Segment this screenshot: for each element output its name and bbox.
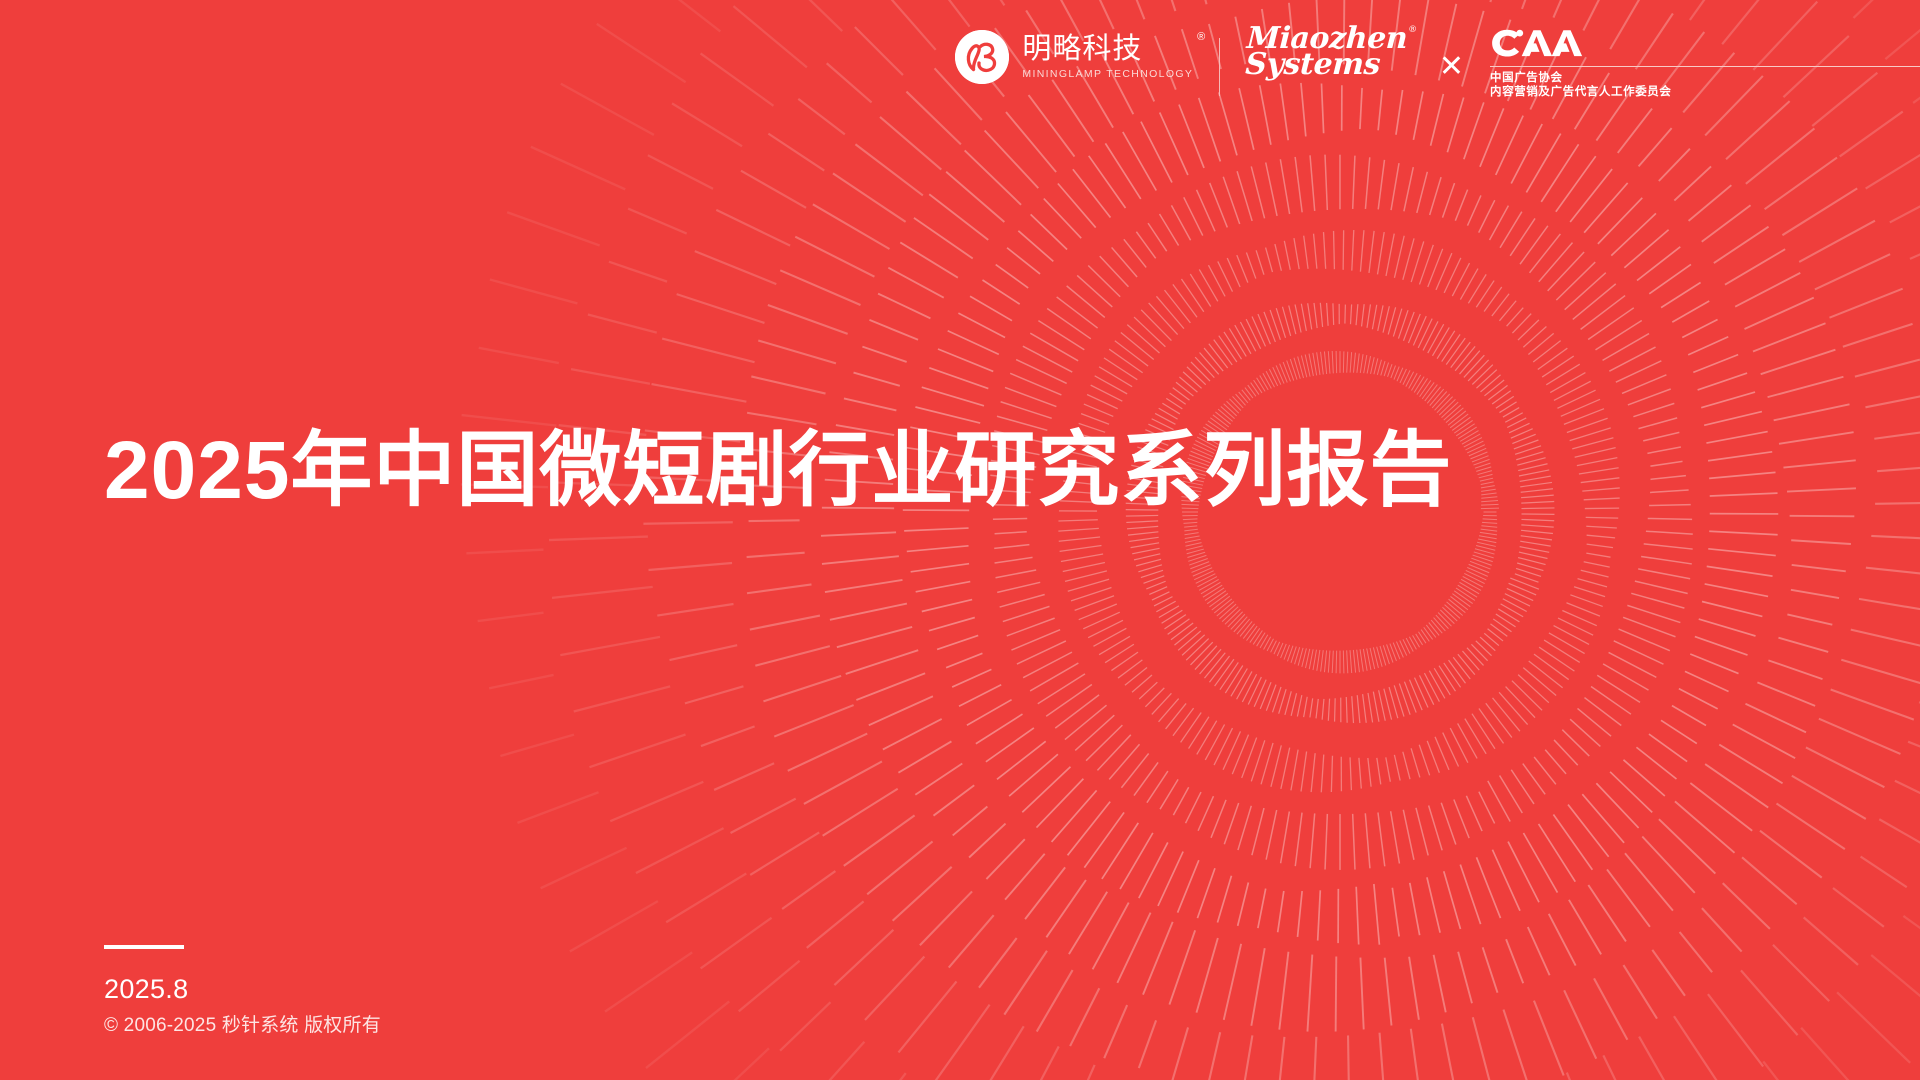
cross-separator-icon: ✕ [1439,52,1464,82]
mininglamp-name-en: MININGLAMP TECHNOLOGY [1022,68,1193,81]
miaozhen-name-line1-text: Miaozhen [1246,21,1408,56]
mininglamp-name-cn-text: 明略科技 [1022,33,1142,65]
miaozhen-logo: Miaozhen ® Systems [1245,26,1414,78]
footer: 2025.8 © 2006-2025 秒针系统 版权所有 [104,945,381,1038]
caa-horizontal-rule [1490,66,1920,67]
mininglamp-name-cn: 明略科技 ® [1022,34,1193,65]
radial-ring-decoration [0,0,1920,1080]
miaozhen-name-line1: Miaozhen ® [1246,26,1408,52]
caa-name-cn-1: 中国广告协会 [1490,71,1920,85]
logo-vertical-divider [1219,38,1220,96]
mininglamp-logo-group: 明略科技 ® MININGLAMP TECHNOLOGY [955,26,1219,88]
registered-trademark-icon: ® [1197,32,1206,43]
mininglamp-logo: 明略科技 ® MININGLAMP TECHNOLOGY [955,26,1219,88]
mininglamp-flame-icon [955,30,1009,84]
page-title: 2025年中国微短剧行业研究系列报告 [104,423,1452,519]
partner-logo-bar: 明略科技 ® MININGLAMP TECHNOLOGY Miaozhen ® … [955,26,1920,108]
caa-logo: 中国广告协会 内容营销及广告代言人工作委员会 [1490,26,1920,99]
copyright-notice: © 2006-2025 秒针系统 版权所有 [104,1014,381,1038]
footer-accent-rule [104,945,184,949]
report-date: 2025.8 [104,973,381,1005]
caa-logo-icon [1490,28,1603,58]
registered-trademark-icon: ® [1408,27,1417,35]
mininglamp-wordmark: 明略科技 ® MININGLAMP TECHNOLOGY [1022,34,1193,81]
caa-name-cn-2: 内容营销及广告代言人工作委员会 [1490,85,1920,99]
title-slide: 明略科技 ® MININGLAMP TECHNOLOGY Miaozhen ® … [0,0,1920,1080]
